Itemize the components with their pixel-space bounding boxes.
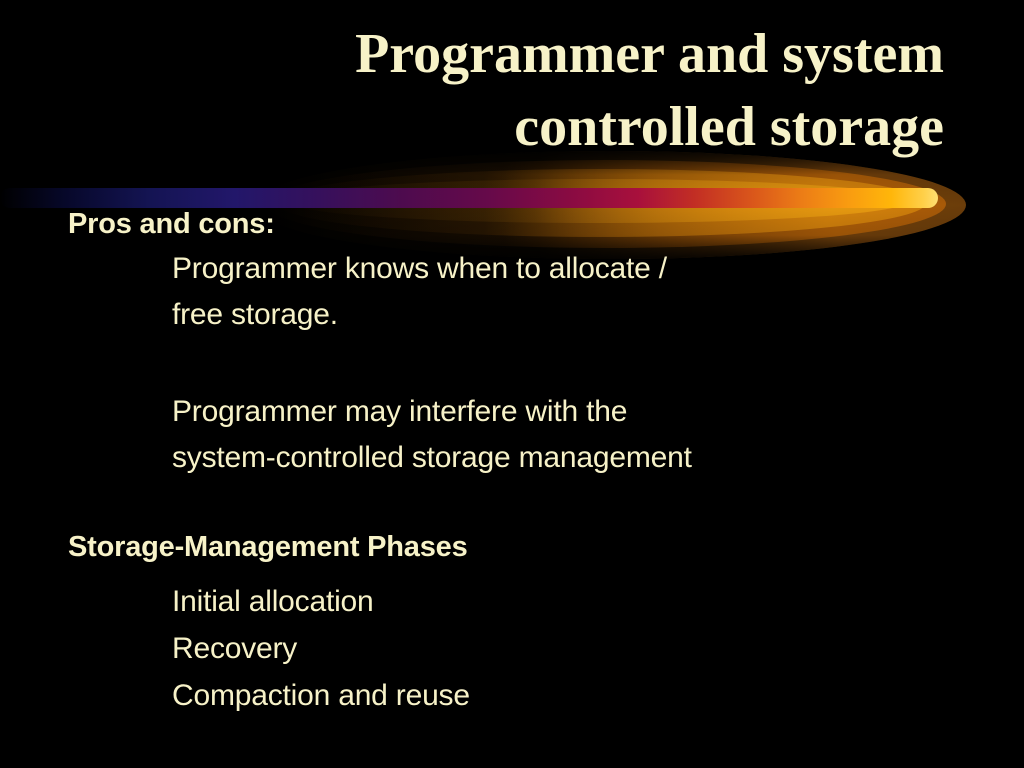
body-line-allocate-1: Programmer knows when to allocate / xyxy=(172,252,667,286)
slide-title-line-2: controlled storage xyxy=(60,91,944,164)
section-heading-pros-and-cons: Pros and cons: xyxy=(68,208,275,241)
body-line-interfere-1: Programmer may interfere with the xyxy=(172,395,627,429)
body-line-allocate-2: free storage. xyxy=(172,298,338,332)
body-line-recovery: Recovery xyxy=(172,632,297,666)
section-heading-storage-management-phases: Storage-Management Phases xyxy=(68,531,468,564)
body-line-compaction-and-reuse: Compaction and reuse xyxy=(172,679,470,713)
slide-title-line-1: Programmer and system xyxy=(60,18,944,91)
slide-title: Programmer and system controlled storage xyxy=(60,18,944,164)
body-line-initial-allocation: Initial allocation xyxy=(172,585,374,619)
comet-halo-layers xyxy=(254,151,966,259)
body-line-interfere-2: system-controlled storage management xyxy=(172,441,692,475)
slide-canvas: Programmer and system controlled storage… xyxy=(0,0,1024,768)
comet-streak-bar xyxy=(0,188,938,208)
